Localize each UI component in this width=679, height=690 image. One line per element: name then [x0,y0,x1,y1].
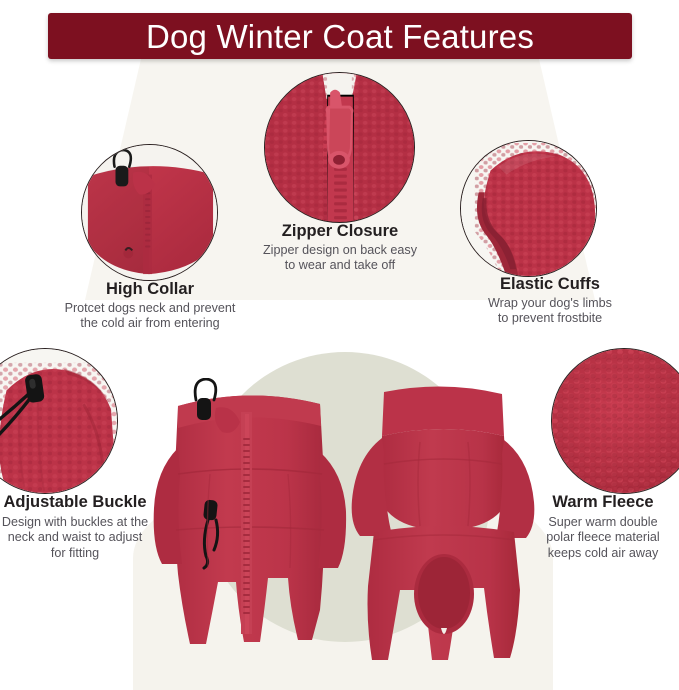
feature-title-elastic-cuffs: Elastic Cuffs [450,275,650,294]
title-banner: Dog Winter Coat Features [48,13,632,59]
warm-fleece-photo [552,349,679,493]
elastic-cuff-photo [461,141,596,276]
feature-image-zipper-closure [264,72,415,223]
zipper-closure-photo [265,73,414,222]
feature-desc-adjustable-buckle: Design with buckles at the neck and wais… [0,515,155,561]
feature-title-adjustable-buckle: Adjustable Buckle [0,493,155,512]
adjustable-buckle-photo [0,349,117,493]
feature-desc-high-collar: Protcet dogs neck and prevent the cold a… [40,301,260,332]
feature-title-high-collar: High Collar [50,280,250,299]
feature-title-zipper-closure: Zipper Closure [240,222,440,241]
feature-desc-warm-fleece: Super warm double polar fleece material … [528,515,678,561]
feature-title-warm-fleece: Warm Fleece [528,493,678,512]
feature-desc-zipper-closure: Zipper design on back easy to wear and t… [230,243,450,274]
feature-image-warm-fleece [551,348,679,494]
high-collar-photo [82,145,217,280]
product-image-coat-back-view [148,378,348,678]
coat-back-view-svg [148,378,348,678]
coat-belly-view-svg [348,382,538,672]
feature-image-adjustable-buckle [0,348,118,494]
feature-desc-elastic-cuffs: Wrap your dog's limbs to prevent frostbi… [440,296,660,327]
feature-image-high-collar [81,144,218,281]
infographic-page: Dog Winter Coat Features [0,0,679,690]
product-image-coat-belly-view [348,382,538,672]
feature-image-elastic-cuffs [460,140,597,277]
page-title: Dog Winter Coat Features [146,20,534,53]
